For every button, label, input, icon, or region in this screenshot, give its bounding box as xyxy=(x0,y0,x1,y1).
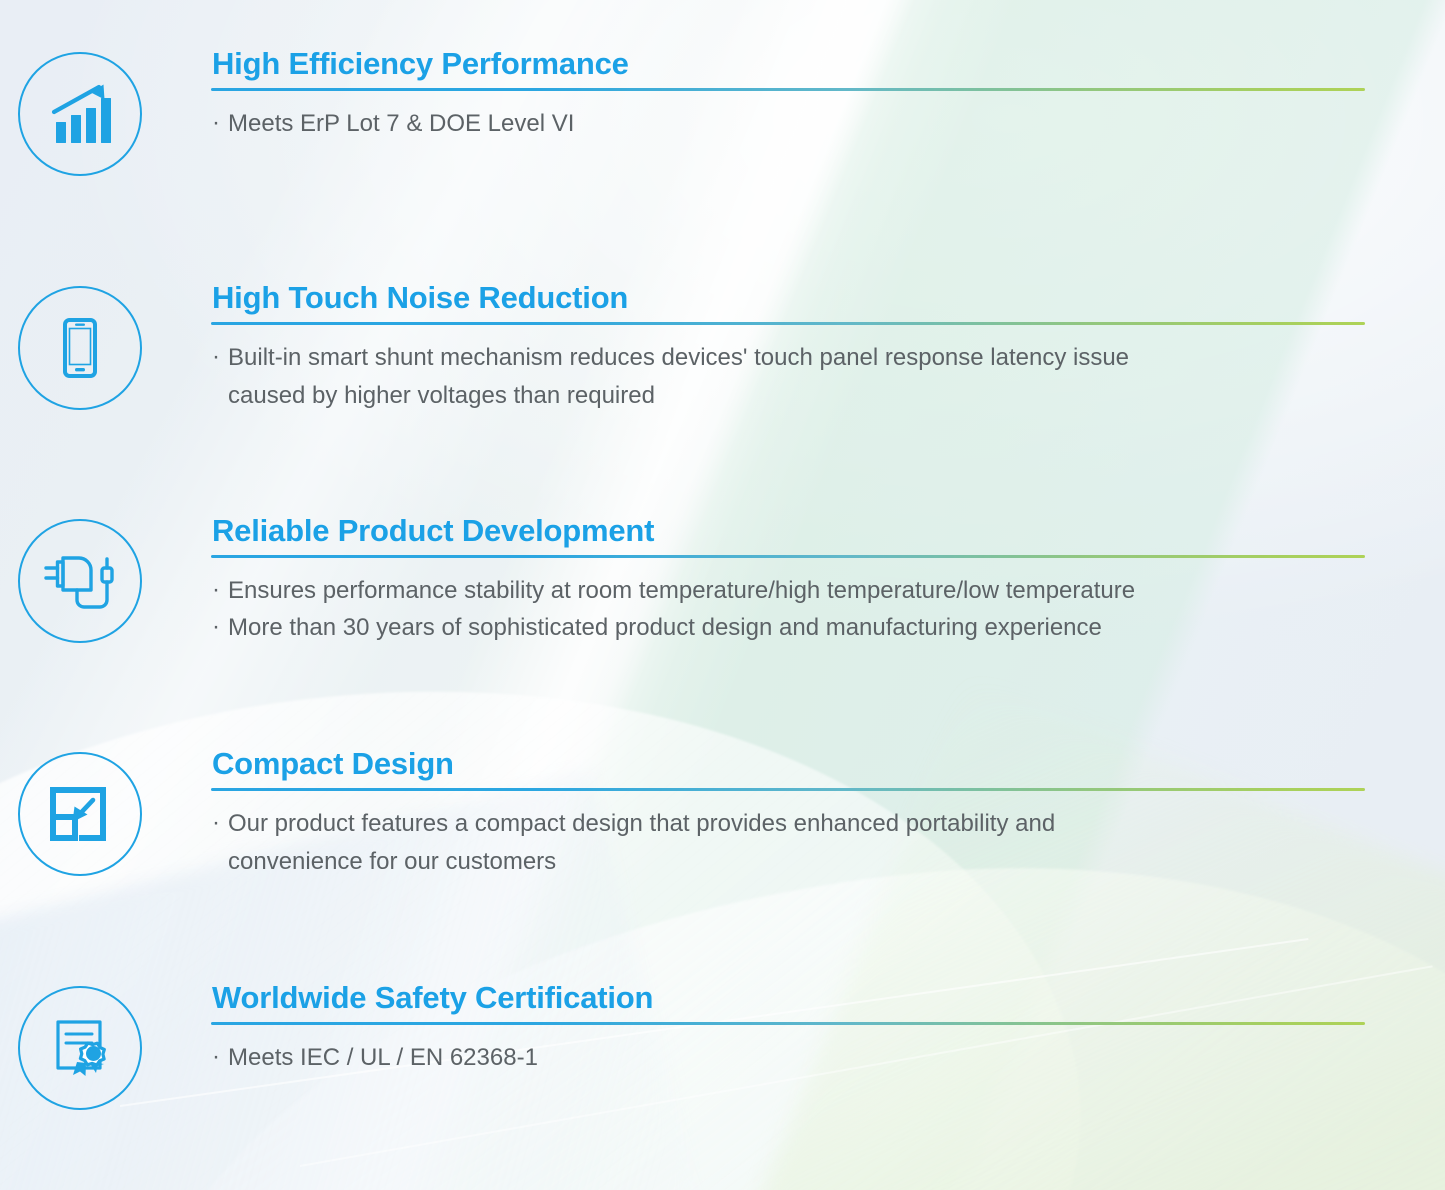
feature-icon-wrap xyxy=(0,515,160,643)
feature-title: Compact Design xyxy=(211,748,1365,788)
feature-bullets: Ensures performance stability at room te… xyxy=(211,572,1365,646)
feature-title: Reliable Product Development xyxy=(211,515,1365,555)
feature-body: Worldwide Safety Certification Meets IEC… xyxy=(160,982,1445,1077)
feature-icon-wrap xyxy=(0,282,160,410)
feature-bullets: Meets ErP Lot 7 & DOE Level VI xyxy=(211,105,1365,143)
feature-item-high-touch-noise-reduction: High Touch Noise Reduction Built-in smar… xyxy=(0,282,1445,415)
feature-body: Compact Design Our product features a co… xyxy=(160,748,1445,881)
feature-bullets: Built-in smart shunt mechanism reduces d… xyxy=(211,339,1365,415)
feature-divider xyxy=(211,88,1365,91)
feature-body: Reliable Product Development Ensures per… xyxy=(160,515,1445,646)
bullet-item: Ensures performance stability at room te… xyxy=(211,572,1365,609)
bullet-item: Meets IEC / UL / EN 62368-1 xyxy=(211,1039,1365,1077)
compact-resize-icon xyxy=(18,752,142,876)
feature-body: High Efficiency Performance Meets ErP Lo… xyxy=(160,48,1445,143)
feature-divider xyxy=(211,322,1365,325)
feature-title: Worldwide Safety Certification xyxy=(211,982,1365,1022)
feature-item-high-efficiency-performance: High Efficiency Performance Meets ErP Lo… xyxy=(0,48,1445,176)
feature-title: High Touch Noise Reduction xyxy=(211,282,1365,322)
feature-item-compact-design: Compact Design Our product features a co… xyxy=(0,748,1445,881)
feature-bullets: Our product features a compact design th… xyxy=(211,805,1365,881)
bullet-item: More than 30 years of sophisticated prod… xyxy=(211,609,1365,646)
bullet-item: Our product features a compact design th… xyxy=(211,805,1365,881)
bullet-item: Built-in smart shunt mechanism reduces d… xyxy=(211,339,1365,415)
bullet-item: Meets ErP Lot 7 & DOE Level VI xyxy=(211,105,1365,143)
power-adapter-icon xyxy=(18,519,142,643)
certificate-seal-icon xyxy=(18,986,142,1110)
feature-divider xyxy=(211,1022,1365,1025)
feature-icon-wrap xyxy=(0,982,160,1110)
features-list: High Efficiency Performance Meets ErP Lo… xyxy=(0,0,1445,1190)
feature-item-worldwide-safety-certification: Worldwide Safety Certification Meets IEC… xyxy=(0,982,1445,1110)
feature-divider xyxy=(211,555,1365,558)
feature-highlights-page: High Efficiency Performance Meets ErP Lo… xyxy=(0,0,1445,1190)
feature-title: High Efficiency Performance xyxy=(211,48,1365,88)
feature-icon-wrap xyxy=(0,748,160,876)
feature-divider xyxy=(211,788,1365,791)
feature-item-reliable-product-development: Reliable Product Development Ensures per… xyxy=(0,515,1445,646)
feature-bullets: Meets IEC / UL / EN 62368-1 xyxy=(211,1039,1365,1077)
smartphone-icon xyxy=(18,286,142,410)
feature-icon-wrap xyxy=(0,48,160,176)
bar-chart-growth-icon xyxy=(18,52,142,176)
feature-body: High Touch Noise Reduction Built-in smar… xyxy=(160,282,1445,415)
